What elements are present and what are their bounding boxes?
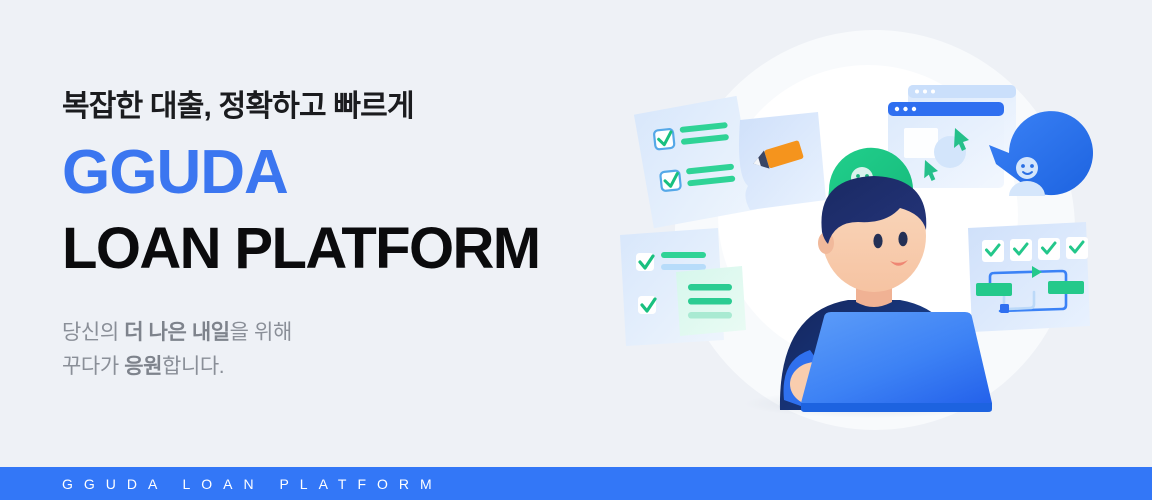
hero-eyebrow: 복잡한 대출, 정확하고 빠르게	[62, 88, 622, 126]
checklist-card-top-left	[633, 95, 757, 229]
hero-illustration	[600, 0, 1152, 467]
tagline-text-1b: 을 위해	[230, 321, 292, 344]
tagline-strong-1: 더 나은 내일	[124, 321, 229, 344]
laptop-base	[801, 403, 992, 412]
tagline-text-2b: 합니다.	[162, 355, 224, 378]
laptop	[801, 312, 992, 412]
laptop-lid	[801, 312, 992, 403]
hero-banner: 복잡한 대출, 정확하고 빠르게 GGUDA LOAN PLATFORM 당신의…	[0, 0, 1152, 500]
pencil-card	[739, 112, 826, 210]
hero-tagline-line-2: 꾸다가 응원합니다.	[62, 350, 622, 384]
ticker-text: GGUDA LOAN PLATFORM	[62, 476, 443, 492]
green-note-card	[676, 266, 746, 336]
tagline-strong-2: 응원	[124, 355, 162, 378]
tagline-text-2a: 꾸다가	[62, 355, 124, 378]
hero-tagline: 당신의 더 나은 내일을 위해 꾸다가 응원합니다.	[62, 316, 622, 384]
tagline-text-1a: 당신의	[62, 321, 124, 344]
person-eye-left	[873, 234, 882, 248]
hero-product-name: LOAN PLATFORM	[62, 220, 622, 278]
bottom-ticker-bar: GGUDA LOAN PLATFORM	[0, 467, 1152, 500]
person-eye-right	[898, 232, 907, 246]
hero-brand-name: GGUDA	[62, 142, 622, 204]
hero-copy-block: 복잡한 대출, 정확하고 빠르게 GGUDA LOAN PLATFORM 당신의…	[62, 88, 622, 384]
hero-tagline-line-1: 당신의 더 나은 내일을 위해	[62, 316, 622, 350]
workflow-card-right	[968, 222, 1090, 332]
